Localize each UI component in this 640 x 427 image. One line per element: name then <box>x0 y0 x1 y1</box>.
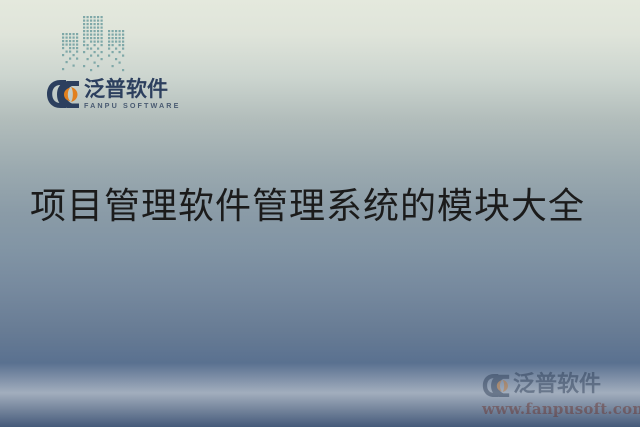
watermark-url: www.fanpusoft.com <box>482 400 632 418</box>
watermark-brand-name: 泛普软件 <box>513 374 601 396</box>
brand-name-en: FANPU SOFTWARE <box>84 102 180 109</box>
fanpu-logo-icon <box>46 79 80 109</box>
brand-name-cn: 泛普软件 <box>84 79 180 100</box>
brand-text-block: 泛普软件 FANPU SOFTWARE <box>84 79 180 109</box>
slide-canvas: 泛普软件 FANPU SOFTWARE 项目管理软件管理系统的模块大全 泛普软件… <box>0 0 640 427</box>
watermark: 泛普软件 www.fanpusoft.com <box>482 371 632 419</box>
brand-logo-lockup: 泛普软件 FANPU SOFTWARE <box>46 74 168 114</box>
building-dots-graphic <box>58 6 134 78</box>
page-title: 项目管理软件管理系统的模块大全 <box>30 186 585 228</box>
building-dots-icon <box>58 6 134 78</box>
watermark-fanpu-logo-icon <box>482 373 510 398</box>
watermark-logo-row: 泛普软件 <box>482 371 632 399</box>
